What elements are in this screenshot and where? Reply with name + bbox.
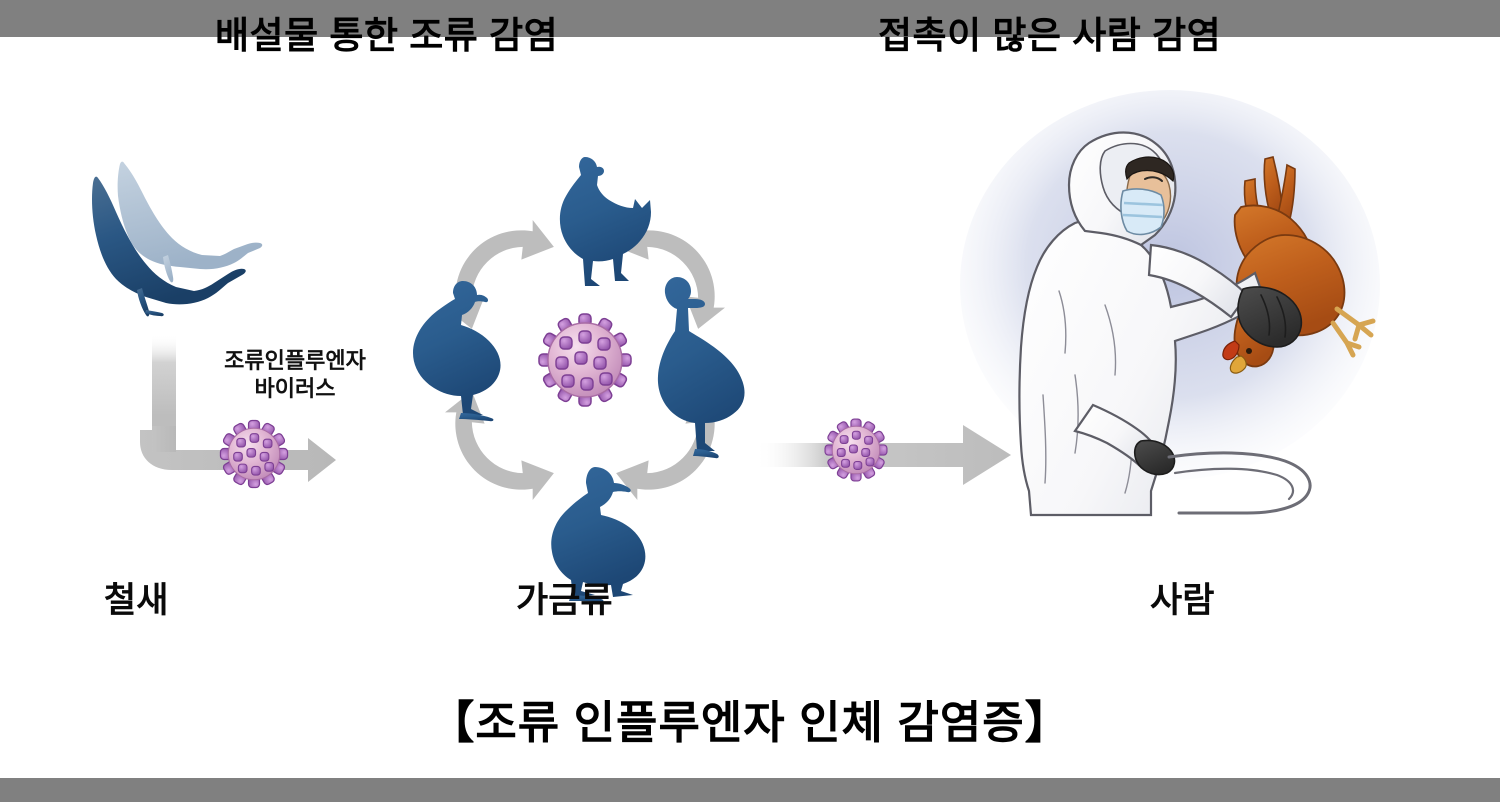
virus-particle-icon [215, 415, 293, 493]
label-human: 사람 [1150, 583, 1214, 618]
quail-icon [413, 281, 501, 421]
page-title: 【조류 인플루엔자 인체 감염증】 [0, 700, 1500, 745]
poultry-cycle-illustration [395, 145, 775, 575]
virus-particle-icon [820, 414, 892, 486]
infographic-canvas: 배설물 통한 조류 감염 접촉이 많은 사람 감염 [0, 0, 1500, 802]
virus-label-line1: 조류인플루엔자 [205, 347, 385, 375]
label-poultry: 가금류 [516, 583, 613, 618]
chicken-eye [1246, 348, 1252, 354]
virus-label: 조류인플루엔자 바이러스 [205, 347, 385, 402]
wild-birds-illustration [60, 150, 320, 350]
curved-double-arrow-icon-bottom-left [431, 388, 557, 514]
label-wild-birds: 철새 [104, 583, 168, 618]
poultry-cycle-svg [395, 145, 775, 575]
heading-fecal-transmission: 배설물 통한 조류 감염 [215, 17, 558, 54]
virus-particle-human [820, 414, 892, 486]
virus-label-line2: 바이러스 [205, 375, 385, 403]
wild-birds-svg [60, 150, 320, 350]
bottom-frame-bar [0, 778, 1500, 802]
human-worker-illustration [955, 95, 1385, 515]
heading-human-contact-transmission: 접촉이 많은 사람 감염 [878, 17, 1221, 54]
virus-particle-center [539, 314, 631, 406]
chicken-icon [560, 157, 651, 286]
ppe-worker-svg [955, 95, 1385, 515]
duck-icon [658, 277, 745, 458]
virus-particle-wild [215, 415, 293, 493]
